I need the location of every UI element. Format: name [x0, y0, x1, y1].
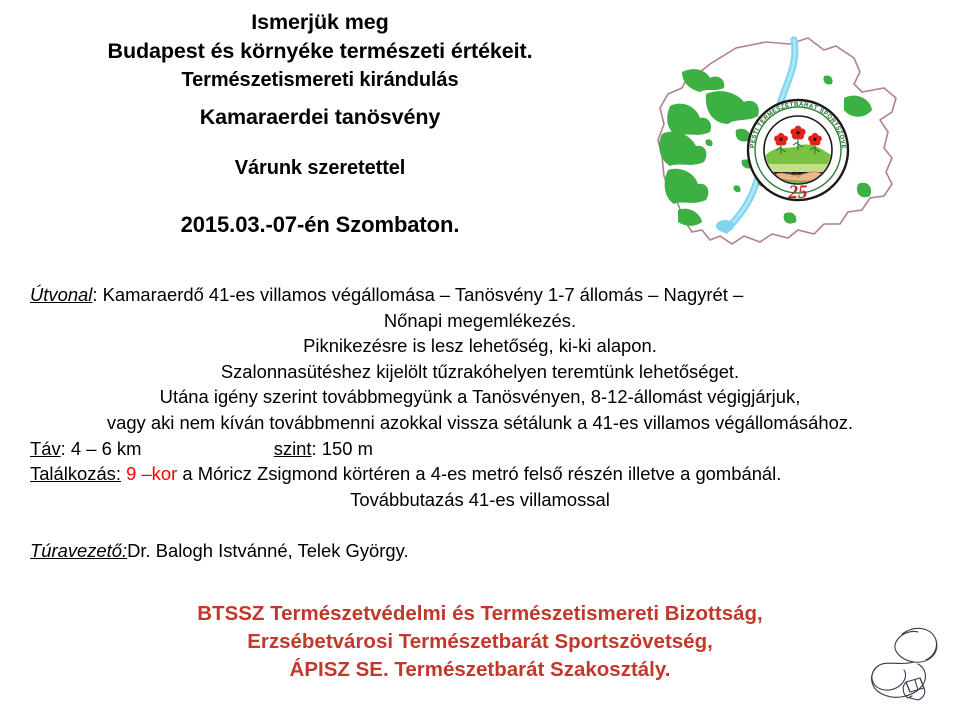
- route-line-3-picnic: Piknikezésre is lesz lehetőség, ki-ki al…: [0, 333, 960, 359]
- tour-guide-line: Túravezető:Dr. Balogh Istvánné, Telek Gy…: [30, 538, 409, 564]
- decorative-snail-doodle: [852, 616, 952, 712]
- route-label-colon: :: [92, 284, 97, 305]
- stats-line: Táv: 4 – 6 km szint: 150 m: [0, 436, 960, 462]
- organizer-line-2: Erzsébetvárosi Természetbarát Sportszöve…: [0, 628, 960, 656]
- route-line-2: Nőnapi megemlékezés.: [0, 308, 960, 334]
- header-line-6-date: 2015.03.-07-én Szombaton.: [0, 210, 640, 239]
- header-line-2: Budapest és környéke természeti értékeit…: [0, 37, 640, 66]
- ascent-value: 150 m: [322, 438, 373, 459]
- doodle-svg: [852, 616, 952, 712]
- distance-label: Táv: [30, 438, 61, 459]
- route-line-4-bacon-roast: Szalonnasütéshez kijelölt tűzrakóhelyen …: [0, 359, 960, 385]
- budapest-map-svg: BUDAPESTI TERMÉSZETBARÁT SPORTSZÖVETSÉG: [648, 28, 948, 278]
- flyer-page: { "header": { "line1": "Ismerjük meg", "…: [0, 0, 960, 720]
- header-line-4-trail-name: Kamaraerdei tanösvény: [0, 103, 640, 132]
- meeting-time: 9 –kor: [126, 463, 177, 484]
- route-line-5-continue: Utána igény szerint továbbmegyünk a Tanö…: [0, 384, 960, 410]
- route-line-1: Útvonal: Kamaraerdő 41-es villamos végál…: [0, 282, 960, 308]
- route-label: Útvonal: [30, 284, 92, 305]
- ascent-label: szint: [274, 438, 312, 459]
- ascent-colon: :: [312, 438, 317, 459]
- meeting-transport: Továbbutazás 41-es villamossal: [0, 487, 960, 513]
- budapest-map-with-emblem: BUDAPESTI TERMÉSZETBARÁT SPORTSZÖVETSÉG: [648, 28, 948, 278]
- flyer-header: Ismerjük meg Budapest és környéke termés…: [0, 8, 640, 239]
- route-line-6-return: vagy aki nem kíván továbbmenni azokkal v…: [0, 410, 960, 436]
- meeting-line: Találkozás: 9 –kor a Móricz Zsigmond kör…: [0, 461, 960, 487]
- organizer-line-1: BTSSZ Természetvédelmi és Természetismer…: [0, 600, 960, 628]
- header-line-5-welcome: Várunk szeretettel: [0, 154, 640, 183]
- meeting-place: a Móricz Zsigmond körtéren a 4-es metró …: [182, 463, 781, 484]
- emblem-anniversary-25: 25: [788, 182, 809, 203]
- route-text-1: Kamaraerdő 41-es villamos végállomása – …: [103, 284, 744, 305]
- organizer-line-3: ÁPISZ SE. Természetbarát Szakosztály.: [0, 656, 960, 684]
- header-line-3: Természetismereti kirándulás: [0, 66, 640, 94]
- meeting-label: Találkozás:: [30, 463, 121, 484]
- distance-value: 4 – 6 km: [71, 438, 142, 459]
- guide-label: Túravezető:: [30, 540, 127, 561]
- organizers-block: BTSSZ Természetvédelmi és Természetismer…: [0, 600, 960, 684]
- distance-colon: :: [61, 438, 66, 459]
- header-line-1: Ismerjük meg: [0, 8, 640, 37]
- guide-names: Dr. Balogh Istvánné, Telek György.: [127, 540, 408, 561]
- trip-details-block: Útvonal: Kamaraerdő 41-es villamos végál…: [0, 282, 960, 512]
